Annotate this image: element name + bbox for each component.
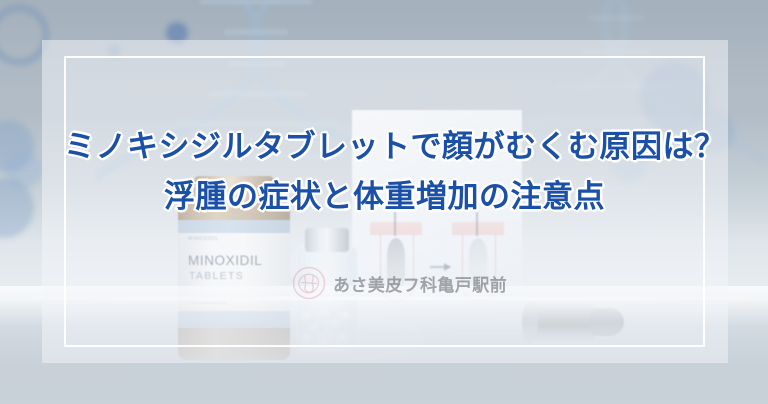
title-line-2: 浮腫の症状と体重増加の注意点 [64,172,705,222]
banner-title: ミノキシジルタブレットで顔がむくむ原因は？ 浮腫の症状と体重増加の注意点 [64,122,705,222]
clinic-name-text: あさ美皮フ科亀戸駅前 [333,271,507,296]
title-line-1: ミノキシジルタブレットで顔がむくむ原因は？ [64,122,705,172]
clinic-watermark: あさ美皮フ科亀戸駅前 [292,266,507,300]
hero-banner: MINOXIDIL MINOXIDIL TABLETS Film coated … [0,0,768,404]
clinic-logo-icon [292,266,326,300]
